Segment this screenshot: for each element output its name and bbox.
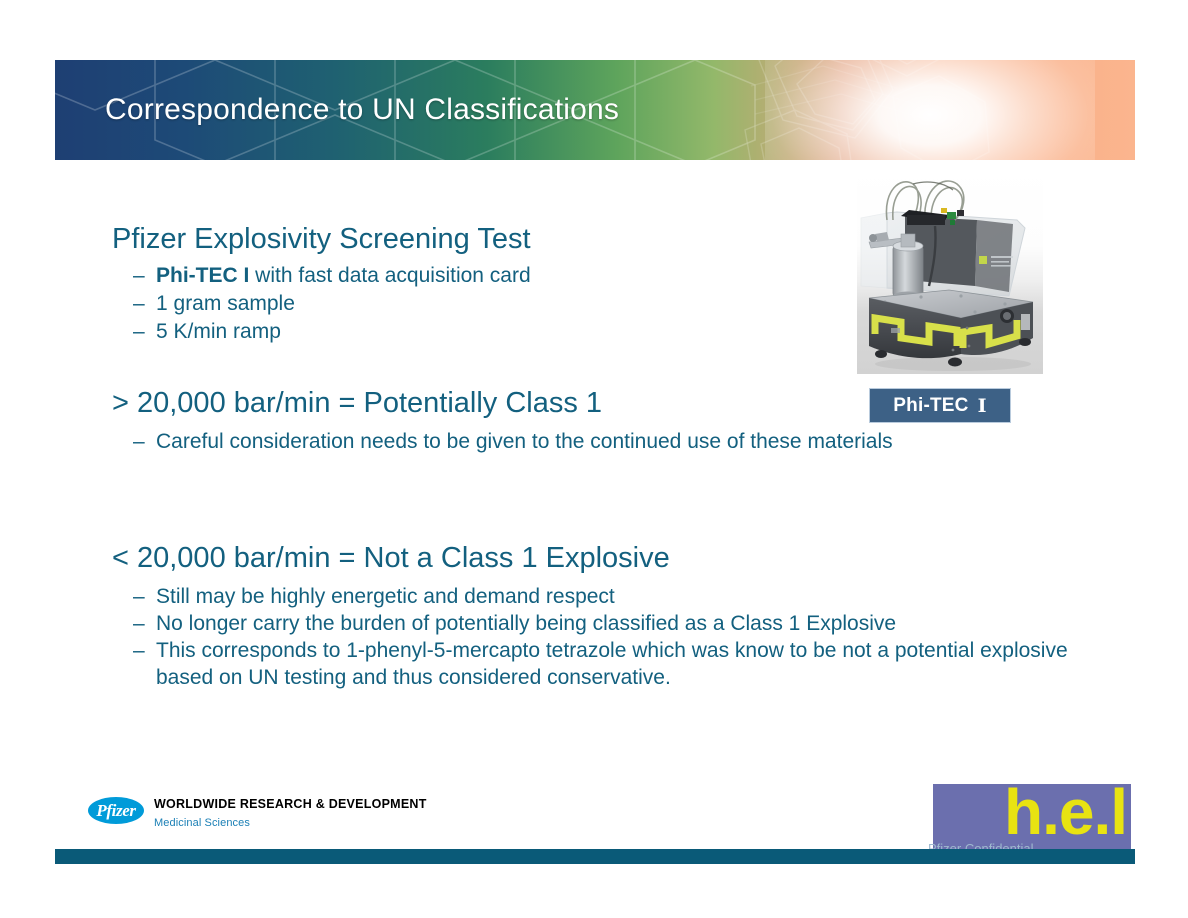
list-item-label: This corresponds to 1-phenyl-5-mercapto … <box>156 637 1078 691</box>
bullet-list-not-class-1: – Still may be highly energetic and dema… <box>133 583 1078 691</box>
bullet-dash-icon: – <box>133 318 156 346</box>
bullet-dash-icon: – <box>133 262 156 290</box>
bullet-dash-icon: – <box>133 610 156 637</box>
footer-accent-bar <box>55 849 1135 864</box>
list-item: – Still may be highly energetic and dema… <box>133 583 1078 610</box>
list-item-label: Phi-TEC I with fast data acquisition car… <box>156 262 833 290</box>
pfizer-division-label: WORLDWIDE RESEARCH & DEVELOPMENT <box>154 796 427 812</box>
section-heading-screening-test: Pfizer Explosivity Screening Test <box>112 222 531 256</box>
list-item-label: Careful consideration needs to be given … <box>156 428 1083 456</box>
section-heading-not-class-1: < 20,000 bar/min = Not a Class 1 Explosi… <box>112 541 670 575</box>
pfizer-subdivision-label: Medicinal Sciences <box>154 815 427 831</box>
phi-tec-caption-badge: Phi-TECI <box>869 388 1011 423</box>
list-item-label: No longer carry the burden of potentiall… <box>156 610 1078 637</box>
bullet-dash-icon: – <box>133 428 156 456</box>
bullet-dash-icon: – <box>133 290 156 318</box>
pfizer-logo: Pfizer WORLDWIDE RESEARCH & DEVELOPMENT … <box>88 796 427 831</box>
slide-header-banner: Correspondence to UN Classifications <box>55 60 1135 160</box>
instrument-illustration <box>857 168 1043 374</box>
phi-tec-caption-label: Phi-TEC <box>893 395 968 417</box>
phi-tec-instrument-photo <box>857 168 1043 374</box>
list-item-rest: with fast data acquisition card <box>249 264 530 287</box>
list-item: – Phi-TEC I with fast data acquisition c… <box>133 262 833 290</box>
hel-logo-label: h.e.l <box>1004 784 1127 846</box>
list-item-label: Still may be highly energetic and demand… <box>156 583 1078 610</box>
list-item-bold-prefix: Phi-TEC I <box>156 264 249 287</box>
list-item: – This corresponds to 1-phenyl-5-mercapt… <box>133 637 1078 691</box>
bullet-list-potentially-class-1: – Careful consideration needs to be give… <box>133 428 1083 456</box>
bullet-dash-icon: – <box>133 583 156 610</box>
phi-tec-caption-roman: I <box>978 395 987 417</box>
slide-canvas: Correspondence to UN Classifications Pfi… <box>0 0 1188 918</box>
list-item: – 1 gram sample <box>133 290 833 318</box>
bullet-dash-icon: – <box>133 637 156 664</box>
pfizer-oval-mark-icon: Pfizer <box>88 797 144 824</box>
pfizer-division-block: WORLDWIDE RESEARCH & DEVELOPMENT Medicin… <box>154 796 427 831</box>
list-item: – 5 K/min ramp <box>133 318 833 346</box>
section-heading-potentially-class-1: > 20,000 bar/min = Potentially Class 1 <box>112 386 602 420</box>
list-item-label: 5 K/min ramp <box>156 318 833 346</box>
list-item-label: 1 gram sample <box>156 290 833 318</box>
bullet-list-screening-test: – Phi-TEC I with fast data acquisition c… <box>133 262 833 346</box>
list-item: – Careful consideration needs to be give… <box>133 428 1083 456</box>
page-title: Correspondence to UN Classifications <box>105 93 619 127</box>
pfizer-wordmark: Pfizer <box>96 801 135 821</box>
header-light-glow <box>765 60 1095 160</box>
list-item: – No longer carry the burden of potentia… <box>133 610 1078 637</box>
